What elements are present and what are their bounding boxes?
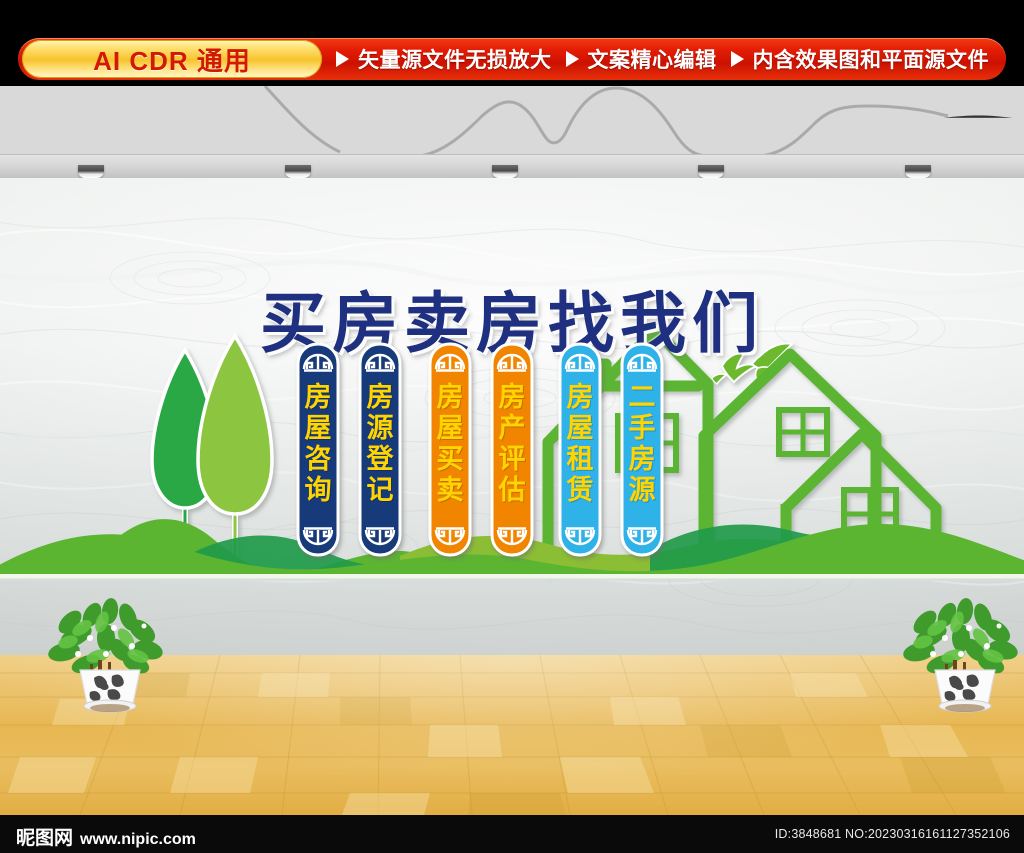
banner-char: 屋 <box>428 413 472 444</box>
promo-item-list: 矢量源文件无损放大 文案精心编辑 内含效果图和平面源文件 <box>322 44 1006 74</box>
banner-char: 咨 <box>296 444 340 475</box>
banner-房屋买卖[interactable]: 房 屋 买 卖 <box>428 342 472 562</box>
promo-item: 内含效果图和平面源文件 <box>731 44 990 74</box>
banner-char: 房 <box>296 382 340 413</box>
banner-char: 屋 <box>558 413 602 444</box>
nipic-url: www.nipic.com <box>80 831 196 849</box>
ceiling <box>0 86 1024 178</box>
nipic-logo: 昵图网 <box>16 823 73 850</box>
banner-char: 产 <box>490 413 534 444</box>
potted-plant-icon <box>895 598 1024 720</box>
plant-right <box>895 598 1024 725</box>
banner-char: 赁 <box>558 475 602 506</box>
promo-item-label: 文案精心编辑 <box>588 44 717 74</box>
promo-bar: AI CDR 通用 矢量源文件无损放大 文案精心编辑 内含效果图和平面源文件 <box>18 38 1006 80</box>
promo-item: 矢量源文件无损放大 <box>336 44 552 74</box>
footer-brand: 昵图网 www.nipic.com <box>16 823 196 850</box>
screenshot-stage: AI CDR 通用 矢量源文件无损放大 文案精心编辑 内含效果图和平面源文件 <box>0 0 1024 853</box>
banner-char: 房 <box>620 444 664 475</box>
banner-char: 房 <box>558 382 602 413</box>
banner-char: 记 <box>358 475 402 506</box>
banner-char: 手 <box>620 413 664 444</box>
promo-item-label: 内含效果图和平面源文件 <box>753 44 990 74</box>
banner-房源登记[interactable]: 房 源 登 记 <box>358 342 402 562</box>
banner-char: 房 <box>428 382 472 413</box>
plant-left <box>40 598 170 725</box>
banner-char: 估 <box>490 475 534 506</box>
banner-char: 房 <box>358 382 402 413</box>
promo-banner: AI CDR 通用 矢量源文件无损放大 文案精心编辑 内含效果图和平面源文件 <box>0 0 1024 86</box>
banner-group: 房 屋 咨 询 <box>0 178 1024 655</box>
banner-char: 源 <box>358 413 402 444</box>
banner-char: 房 <box>490 382 534 413</box>
banner-char: 屋 <box>296 413 340 444</box>
banner-char: 租 <box>558 444 602 475</box>
potted-plant-icon <box>40 598 170 720</box>
ceiling-soffit-shape <box>0 86 1024 156</box>
ceiling-spotlight <box>492 165 518 178</box>
promo-chip-label: AI CDR 通用 <box>93 41 251 78</box>
ceiling-spotlight <box>285 165 311 178</box>
banner-char: 源 <box>620 475 664 506</box>
banner-二手房源[interactable]: 二 手 房 源 <box>620 342 664 562</box>
banner-房屋咨询[interactable]: 房 屋 咨 询 <box>296 342 340 562</box>
ceiling-spotlight <box>698 165 724 178</box>
triangle-right-icon <box>731 51 744 67</box>
ceiling-spotlight <box>78 165 104 178</box>
triangle-right-icon <box>566 51 579 67</box>
banner-char: 评 <box>490 444 534 475</box>
ceiling-spotlight <box>905 165 931 178</box>
banner-房屋租赁[interactable]: 房 屋 租 赁 <box>558 342 602 562</box>
promo-item: 文案精心编辑 <box>566 44 717 74</box>
banner-char: 买 <box>428 444 472 475</box>
triangle-right-icon <box>336 51 349 67</box>
banner-char: 登 <box>358 444 402 475</box>
banner-房产评估[interactable]: 房 产 评 估 <box>490 342 534 562</box>
asset-id-text: ID:3848681 NO:20230316161127352106 <box>775 827 1010 841</box>
banner-char: 卖 <box>428 475 472 506</box>
banner-char: 询 <box>296 475 340 506</box>
banner-char: 二 <box>620 382 664 413</box>
footer-bar: 昵图网 www.nipic.com ID:3848681 NO:20230316… <box>0 815 1024 853</box>
promo-item-label: 矢量源文件无损放大 <box>358 44 552 74</box>
promo-chip: AI CDR 通用 <box>22 40 322 78</box>
